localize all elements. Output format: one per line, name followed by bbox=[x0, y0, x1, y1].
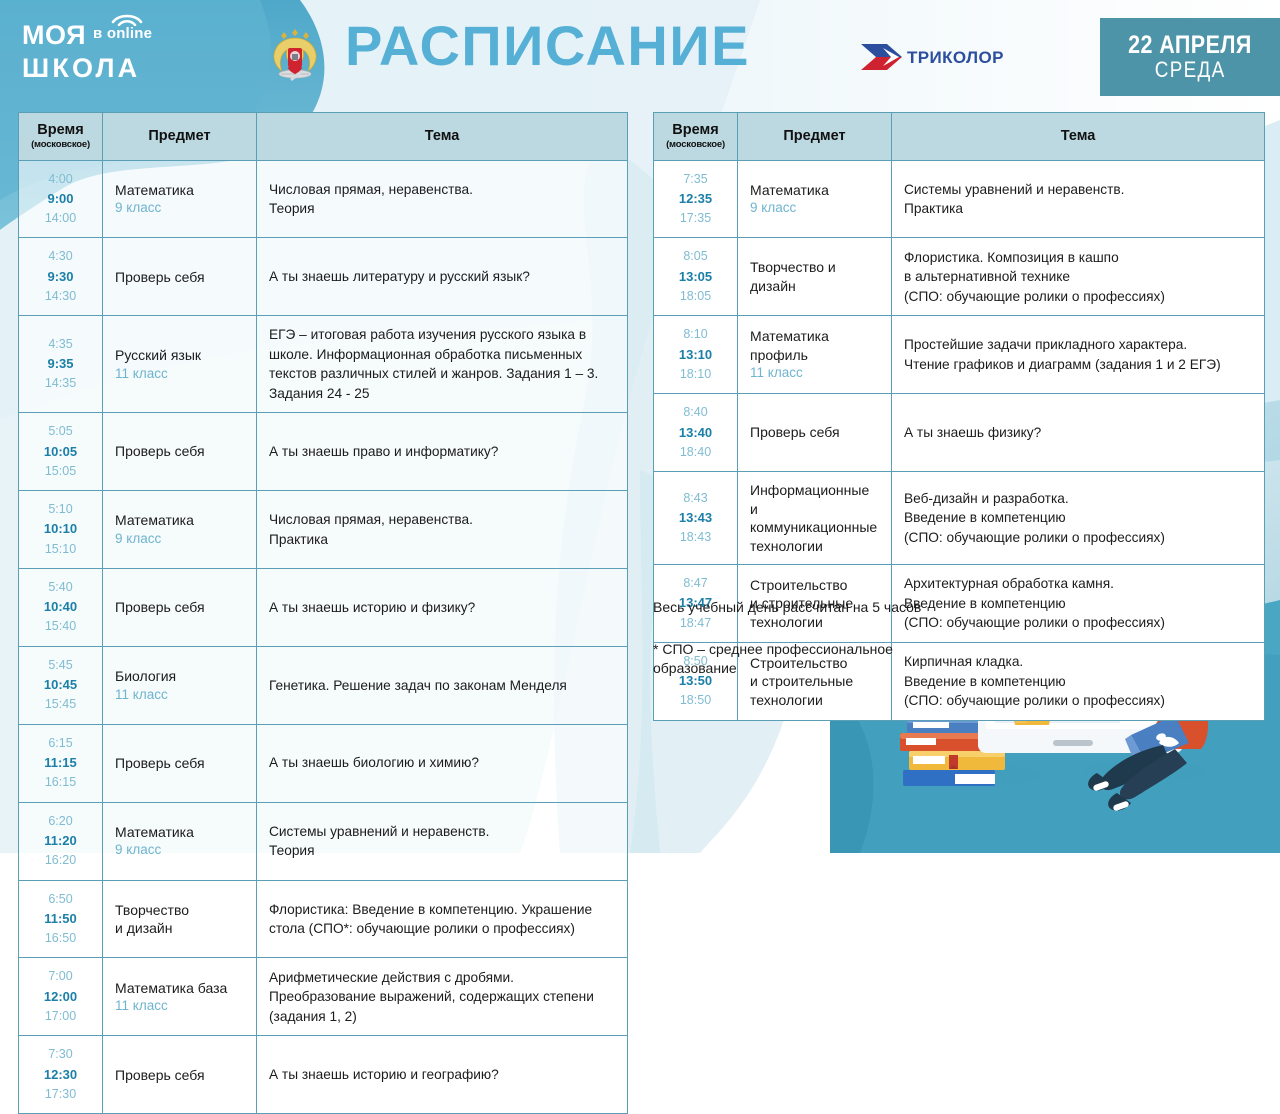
brand-logo-line1: МОЯ bbox=[22, 22, 86, 49]
cell-theme: Генетика. Решение задач по законам Менде… bbox=[257, 647, 627, 724]
time-main: 9:35 bbox=[47, 354, 73, 374]
table-row: 5:0510:0515:05Проверь себяА ты знаешь пр… bbox=[19, 413, 627, 491]
page-header: МОЯ в online ШКОЛА РАСПИСАНИЕ bbox=[0, 0, 1280, 110]
time-main: 13:40 bbox=[679, 423, 712, 443]
time-early: 5:05 bbox=[48, 422, 72, 441]
russia-coat-of-arms-icon bbox=[268, 24, 322, 86]
cell-time: 8:0513:0518:05 bbox=[654, 238, 738, 315]
svg-text:ТРИКОЛОР: ТРИКОЛОР bbox=[907, 48, 1004, 67]
time-early: 8:05 bbox=[683, 247, 707, 266]
tricolor-arrow-icon bbox=[861, 44, 902, 70]
table-row: 6:1511:1516:15Проверь себяА ты знаешь би… bbox=[19, 725, 627, 803]
cell-time: 6:1511:1516:15 bbox=[19, 725, 103, 802]
cell-subject: Русский язык11 класс bbox=[103, 316, 257, 412]
cell-theme: А ты знаешь литературу и русский язык? bbox=[257, 238, 627, 315]
cell-subject: Проверь себя bbox=[103, 725, 257, 802]
table-row: 7:0012:0017:00Математика база11 классАри… bbox=[19, 958, 627, 1036]
time-main: 9:00 bbox=[47, 189, 73, 209]
column-header-time-label: Время bbox=[672, 122, 718, 139]
theme-text: Флористика: Введение в компетенцию. Укра… bbox=[269, 900, 615, 939]
time-late: 14:00 bbox=[45, 209, 76, 228]
time-early: 4:30 bbox=[48, 247, 72, 266]
note-footnote: * СПО – среднее профессиональное образов… bbox=[653, 640, 921, 679]
time-early: 7:35 bbox=[683, 170, 707, 189]
theme-text: Архитектурная обработка камня.Введение в… bbox=[904, 574, 1252, 632]
time-late: 16:15 bbox=[45, 773, 76, 792]
subject-grade: 11 класс bbox=[115, 365, 244, 383]
time-main: 12:35 bbox=[679, 189, 712, 209]
cell-theme: Кирпичная кладка.Введение в компетенцию(… bbox=[892, 643, 1264, 720]
theme-text: А ты знаешь литературу и русский язык? bbox=[269, 267, 615, 286]
cell-subject: Математика9 класс bbox=[103, 161, 257, 238]
cell-subject: Проверь себя bbox=[103, 569, 257, 646]
table-row: 7:3512:3517:35Математика9 классСистемы у… bbox=[654, 161, 1264, 239]
cell-time: 7:3012:3017:30 bbox=[19, 1036, 103, 1113]
subject-name: Проверь себя bbox=[750, 423, 879, 441]
time-early: 5:40 bbox=[48, 578, 72, 597]
cell-theme: Системы уравнений и неравенств.Теория bbox=[257, 803, 627, 880]
theme-text: А ты знаешь историю и географию? bbox=[269, 1065, 615, 1084]
subject-name: Математика bbox=[115, 511, 244, 529]
tricolor-partner-logo: ТРИКОЛОР bbox=[857, 36, 1012, 78]
time-main: 12:30 bbox=[44, 1065, 77, 1085]
theme-text: А ты знаешь биологию и химию? bbox=[269, 753, 615, 772]
time-late: 14:30 bbox=[45, 287, 76, 306]
table-header-row: Время (московское) Предмет Тема bbox=[654, 113, 1264, 161]
cell-subject: Математика база11 класс bbox=[103, 958, 257, 1035]
table-row: 6:2011:2016:20Математика9 классСистемы у… bbox=[19, 803, 627, 881]
time-early: 8:43 bbox=[683, 489, 707, 508]
table-row: 5:4010:4015:40Проверь себяА ты знаешь ис… bbox=[19, 569, 627, 647]
time-late: 15:10 bbox=[45, 540, 76, 559]
subject-name: Русский язык bbox=[115, 346, 244, 364]
cell-subject: Математика9 класс bbox=[103, 491, 257, 568]
cell-subject: Творчество идизайн bbox=[738, 238, 892, 315]
cell-time: 4:359:3514:35 bbox=[19, 316, 103, 412]
column-header-time-sub: (московское) bbox=[31, 140, 90, 151]
subject-name: Математика bbox=[115, 823, 244, 841]
time-early: 8:10 bbox=[683, 325, 707, 344]
time-late: 18:10 bbox=[680, 365, 711, 384]
time-late: 17:30 bbox=[45, 1085, 76, 1104]
cell-theme: Числовая прямая, неравенства.Практика bbox=[257, 491, 627, 568]
cell-subject: Биология11 класс bbox=[103, 647, 257, 724]
cell-time: 4:309:3014:30 bbox=[19, 238, 103, 315]
time-late: 14:35 bbox=[45, 374, 76, 393]
theme-text: Числовая прямая, неравенства.Теория bbox=[269, 180, 615, 219]
time-main: 13:43 bbox=[679, 508, 712, 528]
subject-grade: 11 класс bbox=[115, 686, 244, 704]
cell-time: 5:0510:0515:05 bbox=[19, 413, 103, 490]
time-early: 5:10 bbox=[48, 500, 72, 519]
theme-text: Числовая прямая, неравенства.Практика bbox=[269, 510, 615, 549]
cell-time: 7:3512:3517:35 bbox=[654, 161, 738, 238]
subject-grade: 9 класс bbox=[750, 199, 879, 217]
cell-time: 6:2011:2016:20 bbox=[19, 803, 103, 880]
cell-subject: Проверь себя bbox=[103, 413, 257, 490]
cell-time: 8:4313:4318:43 bbox=[654, 472, 738, 564]
time-early: 6:20 bbox=[48, 812, 72, 831]
time-main: 10:45 bbox=[44, 675, 77, 695]
theme-text: Кирпичная кладка.Введение в компетенцию(… bbox=[904, 652, 1252, 710]
cell-theme: Числовая прямая, неравенства.Теория bbox=[257, 161, 627, 238]
column-header-time: Время (московское) bbox=[654, 113, 738, 160]
time-main: 12:00 bbox=[44, 987, 77, 1007]
theme-text: А ты знаешь физику? bbox=[904, 423, 1252, 442]
subject-name: Биология bbox=[115, 667, 244, 685]
table-row: 8:4313:4318:43Информационные икоммуникац… bbox=[654, 472, 1264, 565]
cell-theme: А ты знаешь биологию и химию? bbox=[257, 725, 627, 802]
time-main: 10:10 bbox=[44, 519, 77, 539]
column-header-time-sub: (московское) bbox=[666, 140, 725, 151]
subject-name: Проверь себя bbox=[115, 1066, 244, 1084]
cell-theme: Системы уравнений и неравенств.Практика bbox=[892, 161, 1264, 238]
time-early: 5:45 bbox=[48, 656, 72, 675]
date-badge: 22 АПРЕЛЯ СРЕДА bbox=[1100, 18, 1280, 96]
cell-time: 6:5011:5016:50 bbox=[19, 881, 103, 958]
table-row: 5:1010:1015:10Математика9 классЧисловая … bbox=[19, 491, 627, 569]
table-row: 8:1013:1018:10Математикапрофиль11 классП… bbox=[654, 316, 1264, 394]
subject-name: Проверь себя bbox=[115, 268, 244, 286]
cell-theme: Флористика: Введение в компетенцию. Укра… bbox=[257, 881, 627, 958]
time-late: 18:43 bbox=[680, 528, 711, 547]
brand-logo: МОЯ в online ШКОЛА bbox=[22, 22, 172, 84]
time-late: 16:50 bbox=[45, 929, 76, 948]
theme-text: Веб-дизайн и разработка.Введение в компе… bbox=[904, 489, 1252, 547]
cell-subject: Творчествои дизайн bbox=[103, 881, 257, 958]
table-row: 4:359:3514:35Русский язык11 классЕГЭ – и… bbox=[19, 316, 627, 413]
time-early: 7:00 bbox=[48, 967, 72, 986]
subject-grade: 9 класс bbox=[115, 199, 244, 217]
time-main: 13:10 bbox=[679, 345, 712, 365]
subject-grade: 11 класс bbox=[750, 364, 879, 382]
cell-theme: Арифметические действия с дробями. Преоб… bbox=[257, 958, 627, 1035]
table-row: 6:5011:5016:50Творчествои дизайнФлористи… bbox=[19, 881, 627, 959]
time-main: 10:05 bbox=[44, 442, 77, 462]
subject-grade: 9 класс bbox=[115, 841, 244, 859]
time-early: 8:47 bbox=[683, 574, 707, 593]
table-header-row: Время (московское) Предмет Тема bbox=[19, 113, 627, 161]
cell-time: 4:009:0014:00 bbox=[19, 161, 103, 238]
subject-name: Творчествои дизайн bbox=[115, 901, 244, 938]
cell-time: 5:1010:1015:10 bbox=[19, 491, 103, 568]
time-late: 17:00 bbox=[45, 1007, 76, 1026]
cell-subject: Математикапрофиль11 класс bbox=[738, 316, 892, 393]
cell-time: 8:1013:1018:10 bbox=[654, 316, 738, 393]
schedule-table-left: Время (московское) Предмет Тема 4:009:00… bbox=[18, 112, 628, 1114]
subject-name: Информационные икоммуникационныетехнолог… bbox=[750, 481, 879, 555]
subject-name: Математикапрофиль bbox=[750, 327, 879, 364]
cell-theme: Флористика. Композиция в кашпов альтерна… bbox=[892, 238, 1264, 315]
cell-subject: Информационные икоммуникационныетехнолог… bbox=[738, 472, 892, 564]
time-late: 16:20 bbox=[45, 851, 76, 870]
cell-theme: А ты знаешь право и информатику? bbox=[257, 413, 627, 490]
cell-subject: Математика9 класс bbox=[738, 161, 892, 238]
cell-subject: Проверь себя bbox=[103, 238, 257, 315]
cell-theme: Простейшие задачи прикладного характера.… bbox=[892, 316, 1264, 393]
cell-theme: А ты знаешь физику? bbox=[892, 394, 1264, 471]
note-duration: Весь учебный день рассчитан на 5 часов bbox=[653, 598, 921, 618]
time-late: 15:40 bbox=[45, 617, 76, 636]
subject-grade: 9 класс bbox=[115, 530, 244, 548]
theme-text: А ты знаешь право и информатику? bbox=[269, 442, 615, 461]
cell-theme: А ты знаешь историю и физику? bbox=[257, 569, 627, 646]
table-row: 5:4510:4515:45Биология11 классГенетика. … bbox=[19, 647, 627, 725]
cell-time: 5:4510:4515:45 bbox=[19, 647, 103, 724]
subject-name: Математика bbox=[750, 181, 879, 199]
subject-name: Проверь себя bbox=[115, 442, 244, 460]
cell-theme: Веб-дизайн и разработка.Введение в компе… bbox=[892, 472, 1264, 564]
time-main: 10:40 bbox=[44, 597, 77, 617]
time-main: 13:05 bbox=[679, 267, 712, 287]
cell-theme: А ты знаешь историю и географию? bbox=[257, 1036, 627, 1113]
time-late: 18:50 bbox=[680, 691, 711, 710]
theme-text: Системы уравнений и неравенств.Теория bbox=[269, 822, 615, 861]
theme-text: Арифметические действия с дробями. Преоб… bbox=[269, 968, 615, 1026]
theme-text: Флористика. Композиция в кашпов альтерна… bbox=[904, 248, 1252, 306]
theme-text: ЕГЭ – итоговая работа изучения русского … bbox=[269, 325, 615, 403]
column-header-time-label: Время bbox=[37, 122, 83, 139]
column-header-subject: Предмет bbox=[738, 113, 892, 160]
cell-theme: ЕГЭ – итоговая работа изучения русского … bbox=[257, 316, 627, 412]
date-weekday: СРЕДА bbox=[1155, 58, 1226, 82]
theme-text: Системы уравнений и неравенств.Практика bbox=[904, 180, 1252, 219]
theme-text: А ты знаешь историю и физику? bbox=[269, 598, 615, 617]
subject-name: Математика база bbox=[115, 979, 244, 997]
page-title: РАСПИСАНИЕ bbox=[345, 18, 750, 74]
cell-subject: Проверь себя bbox=[738, 394, 892, 471]
cell-time: 8:4013:4018:40 bbox=[654, 394, 738, 471]
cell-time: 7:0012:0017:00 bbox=[19, 958, 103, 1035]
subject-grade: 11 класс bbox=[115, 997, 244, 1015]
column-header-theme: Тема bbox=[892, 113, 1264, 160]
time-main: 11:15 bbox=[44, 753, 77, 773]
time-early: 6:50 bbox=[48, 890, 72, 909]
cell-time: 5:4010:4015:40 bbox=[19, 569, 103, 646]
wifi-icon bbox=[110, 12, 144, 26]
column-header-theme: Тема bbox=[257, 113, 627, 160]
table-row: 4:309:3014:30Проверь себяА ты знаешь лит… bbox=[19, 238, 627, 316]
time-late: 17:35 bbox=[680, 209, 711, 228]
time-main: 11:20 bbox=[44, 831, 77, 851]
time-main: 11:50 bbox=[44, 909, 77, 929]
time-late: 15:05 bbox=[45, 462, 76, 481]
date-day: 22 АПРЕЛЯ bbox=[1128, 32, 1252, 58]
table-row: 8:0513:0518:05Творчество идизайнФлористи… bbox=[654, 238, 1264, 316]
time-late: 18:05 bbox=[680, 287, 711, 306]
subject-name: Проверь себя bbox=[115, 754, 244, 772]
notes-block: Весь учебный день рассчитан на 5 часов *… bbox=[653, 598, 921, 679]
subject-name: Математика bbox=[115, 181, 244, 199]
time-early: 8:40 bbox=[683, 403, 707, 422]
time-early: 6:15 bbox=[48, 734, 72, 753]
cell-theme: Архитектурная обработка камня.Введение в… bbox=[892, 565, 1264, 642]
brand-logo-badge: в online bbox=[93, 25, 152, 42]
theme-text: Простейшие задачи прикладного характера.… bbox=[904, 335, 1252, 374]
column-header-time: Время (московское) bbox=[19, 113, 103, 160]
theme-text: Генетика. Решение задач по законам Менде… bbox=[269, 676, 615, 695]
table-row: 8:4013:4018:40Проверь себяА ты знаешь фи… bbox=[654, 394, 1264, 472]
time-early: 7:30 bbox=[48, 1045, 72, 1064]
time-late: 18:40 bbox=[680, 443, 711, 462]
time-main: 9:30 bbox=[47, 267, 73, 287]
cell-subject: Проверь себя bbox=[103, 1036, 257, 1113]
column-header-subject: Предмет bbox=[103, 113, 257, 160]
table-row: 7:3012:3017:30Проверь себяА ты знаешь ис… bbox=[19, 1036, 627, 1113]
cell-subject: Математика9 класс bbox=[103, 803, 257, 880]
subject-name: Творчество идизайн bbox=[750, 258, 879, 295]
time-early: 4:35 bbox=[48, 335, 72, 354]
time-early: 4:00 bbox=[48, 170, 72, 189]
subject-name: Проверь себя bbox=[115, 598, 244, 616]
table-row: 4:009:0014:00Математика9 классЧисловая п… bbox=[19, 161, 627, 239]
time-late: 15:45 bbox=[45, 695, 76, 714]
brand-logo-line2: ШКОЛА bbox=[22, 55, 172, 82]
